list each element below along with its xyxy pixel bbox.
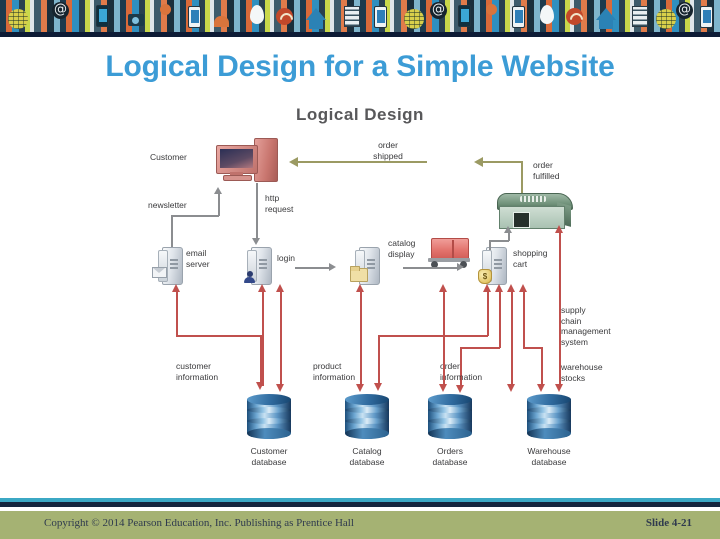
slide-footer: Copyright © 2014 Pearson Education, Inc.…: [0, 511, 720, 539]
order-shipped-connector: [297, 161, 427, 163]
server-slot: [259, 259, 267, 261]
newsletter-arrowhead: [214, 187, 222, 194]
at-sign-icon: @: [676, 2, 693, 19]
order-fulfilled-label: order fulfilled: [533, 160, 603, 181]
order-info-up-arrowhead: [495, 284, 503, 292]
db-cylinder-bottom: [247, 428, 291, 439]
login-db-flow-down: [280, 291, 282, 386]
db-cylinder-band: [428, 418, 472, 424]
db-cylinder-band: [428, 407, 472, 413]
order-info-flow-v2: [499, 291, 501, 348]
page-title: Logical Design for a Simple Website: [0, 50, 720, 84]
login-db-flow-up: [262, 291, 264, 386]
db-cylinder-band: [345, 407, 389, 413]
logical-design-diagram: Logical Design Customer order shipped or…: [0, 95, 720, 490]
server-slot: [367, 267, 375, 269]
camera-icon: [128, 14, 144, 26]
order-shipped-flow-label: order shipped: [353, 140, 423, 161]
catalog-db-flow-2-v1: [378, 335, 380, 385]
warehouse-db-flow-down-arrowhead: [537, 384, 545, 392]
catalog-db-flow-2-h: [378, 335, 488, 337]
catalog-to-cart-arrowhead: [457, 263, 464, 271]
order-info-flow-h: [460, 347, 500, 349]
product-info-down-arrowhead: [356, 384, 364, 392]
person-icon: [486, 4, 497, 15]
globe-icon: [8, 9, 28, 29]
db-cylinder-band: [527, 418, 571, 424]
house-icon: [306, 8, 326, 20]
warehouse-stocks-up-arrowhead: [555, 225, 563, 233]
server-icon: [344, 6, 360, 27]
cart-to-warehouse-connector-v1: [489, 240, 491, 250]
db-cylinder-band: [345, 418, 389, 424]
order-fulfilled-arrowhead: [474, 157, 483, 167]
person-icon: [160, 4, 171, 15]
at-sign-icon: @: [52, 2, 69, 19]
globe-icon: [656, 9, 676, 29]
login-user-icon: [244, 271, 255, 283]
banner-divider-rule: [0, 32, 720, 37]
supply-chain-up-arrowhead: [507, 284, 515, 292]
orders-database-icon: [428, 394, 472, 439]
diagram-heading: Logical Design: [0, 105, 720, 125]
smartphone-icon: [512, 6, 525, 28]
catalog-db-flow-2-down-arrowhead: [374, 383, 382, 391]
warehouse-door: [513, 212, 530, 228]
pc-monitor: [216, 145, 258, 174]
user-shoulders: [244, 277, 255, 283]
house-icon: [596, 8, 616, 20]
warehouse-db-flow-h: [523, 347, 543, 349]
login-to-catalog-arrowhead: [329, 263, 336, 271]
newsletter-label: newsletter: [148, 200, 208, 211]
order-fulfilled-connector-h: [481, 161, 523, 163]
location-pin-icon: [250, 5, 264, 24]
person-icon: [214, 16, 229, 27]
house-icon: [599, 20, 613, 29]
db-cylinder-top: [527, 394, 571, 405]
customer-info-flow-up: [176, 291, 178, 311]
wifi-icon: [566, 8, 583, 25]
customer-database-icon: [247, 394, 291, 439]
orders-db-flow-2-up-arrowhead: [439, 284, 447, 292]
db-cylinder-top: [428, 394, 472, 405]
location-pin-icon: [540, 5, 554, 24]
product-information-label: product information: [313, 361, 383, 382]
pc-base: [223, 175, 252, 181]
warehouse-db-flow-v3: [523, 291, 525, 348]
globe-icon: [404, 9, 424, 29]
orders-db-flow-2: [443, 291, 445, 386]
truck-cab-split: [452, 240, 454, 259]
cart-to-warehouse-connector-h: [489, 240, 509, 242]
db-cylinder-bottom: [527, 428, 571, 439]
supply-chain-flow-v: [511, 291, 513, 386]
customer-label: Customer: [150, 152, 210, 163]
house-icon: [309, 20, 323, 29]
customer-information-label: customer information: [176, 361, 246, 382]
newsletter-connector-h: [171, 215, 219, 217]
cart-to-warehouse-arrowhead: [504, 226, 512, 233]
customer-database-label: Customer database: [224, 446, 314, 467]
supply-chain-down-arrowhead: [507, 384, 515, 392]
server-slot: [259, 263, 267, 265]
server-slot: [170, 263, 178, 265]
slide-number: Slide 4-21: [646, 517, 692, 529]
customer-desktop-icon: [216, 138, 278, 180]
login-server-label: login: [277, 253, 323, 264]
server-slot: [367, 259, 375, 261]
smartphone-icon: [458, 5, 471, 27]
product-info-up-arrowhead: [356, 284, 364, 292]
order-info-down-arrowhead: [456, 385, 464, 393]
warehouse-vent: [520, 196, 546, 202]
login-to-catalog-connector: [295, 267, 330, 269]
server-icon: [632, 6, 648, 27]
orders-db-flow-2-down-arrowhead: [439, 384, 447, 392]
smartphone-icon: [700, 6, 713, 28]
db-cylinder-band: [247, 407, 291, 413]
money-bag-icon: $: [478, 269, 492, 284]
supply-chain-label: supply chain management system: [561, 305, 641, 347]
warehouse-database-label: Warehouse database: [504, 446, 594, 467]
customer-info-flow-down-v1: [176, 309, 178, 336]
customer-info-flow-down-h: [176, 335, 261, 337]
catalog-db-flow-2-up-arrowhead: [483, 284, 491, 292]
wifi-icon: [276, 8, 293, 25]
footer-navy-rule: [0, 502, 720, 507]
db-cylinder-bottom: [345, 428, 389, 439]
order-shipped-arrowhead: [289, 157, 298, 167]
warehouse-stocks-down-arrowhead: [555, 384, 563, 392]
server-slot: [170, 259, 178, 261]
server-slot: [259, 267, 267, 269]
server-slot: [494, 259, 502, 261]
warehouse-stocks-label: warehouse stocks: [561, 362, 641, 383]
email-envelope-icon: [152, 267, 167, 278]
order-information-label: order information: [440, 361, 510, 382]
warehouse-db-flow-up-arrowhead: [519, 284, 527, 292]
server-slot: [494, 263, 502, 265]
http-request-arrowhead: [252, 238, 260, 245]
catalog-to-cart-connector: [403, 267, 458, 269]
server-slot: [367, 263, 375, 265]
catalog-database-label: Catalog database: [322, 446, 412, 467]
http-request-label: http request: [265, 193, 325, 214]
catalog-db-flow-2-v2: [487, 291, 489, 336]
presentation-slide: @ @ @ Logical Design for a Simple Websit…: [0, 0, 720, 539]
email-server-label: email server: [186, 248, 240, 269]
db-cylinder-bottom: [428, 428, 472, 439]
catalog-database-icon: [345, 394, 389, 439]
db-cylinder-band: [527, 407, 571, 413]
at-sign-icon: @: [430, 2, 447, 19]
catalog-folder-icon: [350, 268, 368, 282]
smartphone-icon: [188, 6, 201, 28]
catalog-display-label: catalog display: [388, 238, 442, 259]
newsletter-connector-v2: [218, 193, 220, 216]
warehouse-db-flow-v2: [541, 347, 543, 386]
smartphone-icon: [374, 6, 387, 28]
server-slot: [170, 267, 178, 269]
login-db-down-arrowhead: [276, 384, 284, 392]
customer-info-up-arrowhead: [172, 284, 180, 292]
copyright-text: Copyright © 2014 Pearson Education, Inc.…: [44, 517, 354, 529]
warehouse-database-icon: [527, 394, 571, 439]
pc-screen: [220, 149, 253, 168]
cart-to-warehouse-connector-v2: [508, 232, 510, 241]
db-cylinder-top: [247, 394, 291, 405]
orders-database-label: Orders database: [405, 446, 495, 467]
warehouse-building-icon: [497, 193, 571, 227]
db-cylinder-top: [345, 394, 389, 405]
server-slot: [494, 267, 502, 269]
smartphone-icon: [96, 5, 109, 27]
decorative-tech-collage-banner: @ @ @: [0, 0, 720, 32]
db-cylinder-band: [247, 418, 291, 424]
http-request-connector: [256, 183, 258, 239]
login-db-up-arrowhead: [258, 284, 266, 292]
login-db-up-arrowhead-2: [276, 284, 284, 292]
newsletter-connector-v1: [171, 215, 173, 248]
